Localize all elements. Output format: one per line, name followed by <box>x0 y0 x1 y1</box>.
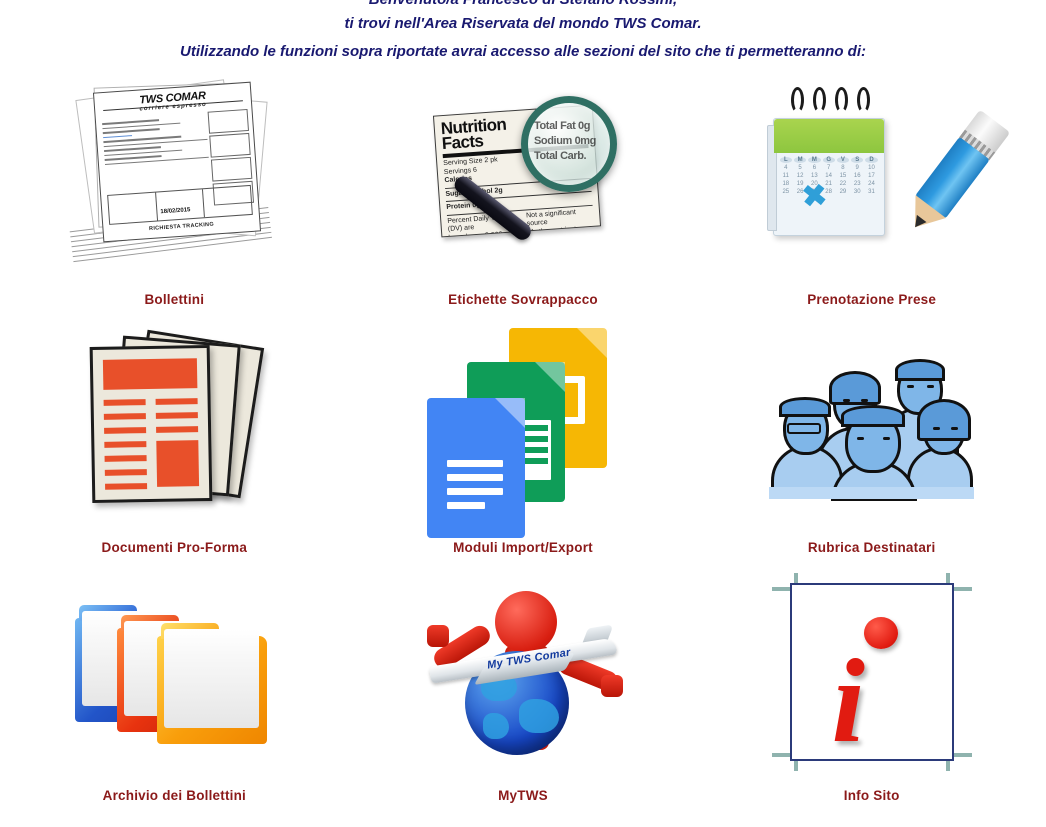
calendar-header-band <box>774 119 884 153</box>
info-frame <box>790 583 954 761</box>
calendar-ring-2 <box>813 87 826 113</box>
feature-grid: TWS COMAR corriere espresso <box>0 66 1046 810</box>
person-left-hair <box>779 397 831 417</box>
waybill-sheet-front: TWS COMAR corriere espresso <box>93 82 261 243</box>
nutrition-magnified-2: Sodium 0mg <box>534 134 604 149</box>
tile-mytws[interactable]: My TWS Comar MyTWS <box>349 562 698 810</box>
tile-label-proforma[interactable]: Documenti Pro-Forma <box>102 534 248 560</box>
calendar-day-grid: LMMGVSD 45678910 11121314151617 18192021… <box>780 157 878 195</box>
folder-yellow-paper <box>164 629 259 728</box>
nutrition-label-magnifier-icon[interactable]: Nutrition Facts Serving Size 2 pk Servin… <box>349 66 698 286</box>
docs-document-blue <box>427 398 525 538</box>
people-base-shadow <box>769 487 974 499</box>
calendar-ring-1 <box>791 87 804 113</box>
mascot-hand-right <box>601 675 623 697</box>
globe-mascot-airplane-icon[interactable]: My TWS Comar <box>349 562 698 782</box>
tile-documenti-proforma[interactable]: Documenti Pro-Forma <box>0 314 349 562</box>
blue-page-fold <box>495 398 525 428</box>
yellow-page-fold <box>577 328 607 358</box>
magnifier-lens: Total Fat 0g Sodium 0mg Total Carb. <box>521 96 617 192</box>
tile-moduli-import-export[interactable]: Moduli Import/Export <box>349 314 698 562</box>
info-i-dot <box>864 617 898 649</box>
calendar-pencil-icon[interactable]: LMMGVSD 45678910 11121314151617 18192021… <box>697 66 1046 286</box>
document-sheet-orange <box>89 344 212 502</box>
waybill-body-lines <box>102 116 209 168</box>
tile-etichette-sovrappacco[interactable]: Nutrition Facts Serving Size 2 pk Servin… <box>349 66 698 314</box>
calendar-ring-3 <box>835 87 848 113</box>
tile-label-mytws[interactable]: MyTWS <box>498 782 548 808</box>
tile-label-rubrica[interactable]: Rubrica Destinatari <box>808 534 936 560</box>
nutrition-magnified-1: Total Fat 0g <box>534 119 604 134</box>
folder-yellow <box>157 636 267 744</box>
pencil <box>901 110 1010 237</box>
office-documents-icon[interactable] <box>349 314 698 534</box>
info-i-glyph: i <box>832 651 865 751</box>
welcome-header: Benvenuto/a Francesco di Stefano Rossini… <box>0 0 1046 60</box>
tile-label-etichette[interactable]: Etichette Sovrappacco <box>448 286 598 312</box>
person-back-left-hair <box>829 371 881 405</box>
green-page-fold <box>535 362 565 392</box>
tile-label-info[interactable]: Info Sito <box>844 782 900 808</box>
tile-rubrica-destinatari[interactable]: Rubrica Destinatari <box>697 314 1046 562</box>
info-i-icon[interactable]: i <box>697 562 1046 782</box>
tile-label-prenotazione[interactable]: Prenotazione Prese <box>807 286 936 312</box>
tile-info-sito[interactable]: i Info Sito <box>697 562 1046 810</box>
waybill-documents-icon[interactable]: TWS COMAR corriere espresso <box>0 66 349 286</box>
people-group-icon[interactable] <box>697 314 1046 534</box>
waybill-footer-boxes <box>107 185 253 225</box>
stacked-documents-icon[interactable] <box>0 314 349 534</box>
calendar-checkmark-icon: ✖ <box>800 184 828 210</box>
welcome-line-3: Utilizzando le funzioni sopra riportate … <box>0 44 1046 60</box>
mascot-hand-left <box>427 625 449 647</box>
tile-prenotazione-prese[interactable]: LMMGVSD 45678910 11121314151617 18192021… <box>697 66 1046 314</box>
person-back-right-hair <box>895 359 945 381</box>
nutrition-magnified-3: Total Carb. <box>534 149 604 164</box>
person-center-hair <box>841 405 905 427</box>
tile-bollettini[interactable]: TWS COMAR corriere espresso <box>0 66 349 314</box>
calendar-ring-4 <box>857 87 870 113</box>
page-root: Benvenuto/a Francesco di Stefano Rossini… <box>0 0 1046 819</box>
welcome-line-1: Benvenuto/a Francesco di Stefano Rossini… <box>0 0 1046 7</box>
tile-label-archivio[interactable]: Archivio dei Bollettini <box>103 782 246 808</box>
calendar: LMMGVSD 45678910 11121314151617 18192021… <box>773 118 885 236</box>
docs-text-lines <box>447 460 503 516</box>
tile-label-bollettini[interactable]: Bollettini <box>144 286 204 312</box>
person-right-hair <box>917 399 971 441</box>
glasses-icon <box>787 423 821 434</box>
welcome-line-2: ti trovi nell'Area Riservata del mondo T… <box>0 16 1046 32</box>
folders-icon[interactable] <box>0 562 349 782</box>
tile-archivio-bollettini[interactable]: Archivio dei Bollettini <box>0 562 349 810</box>
